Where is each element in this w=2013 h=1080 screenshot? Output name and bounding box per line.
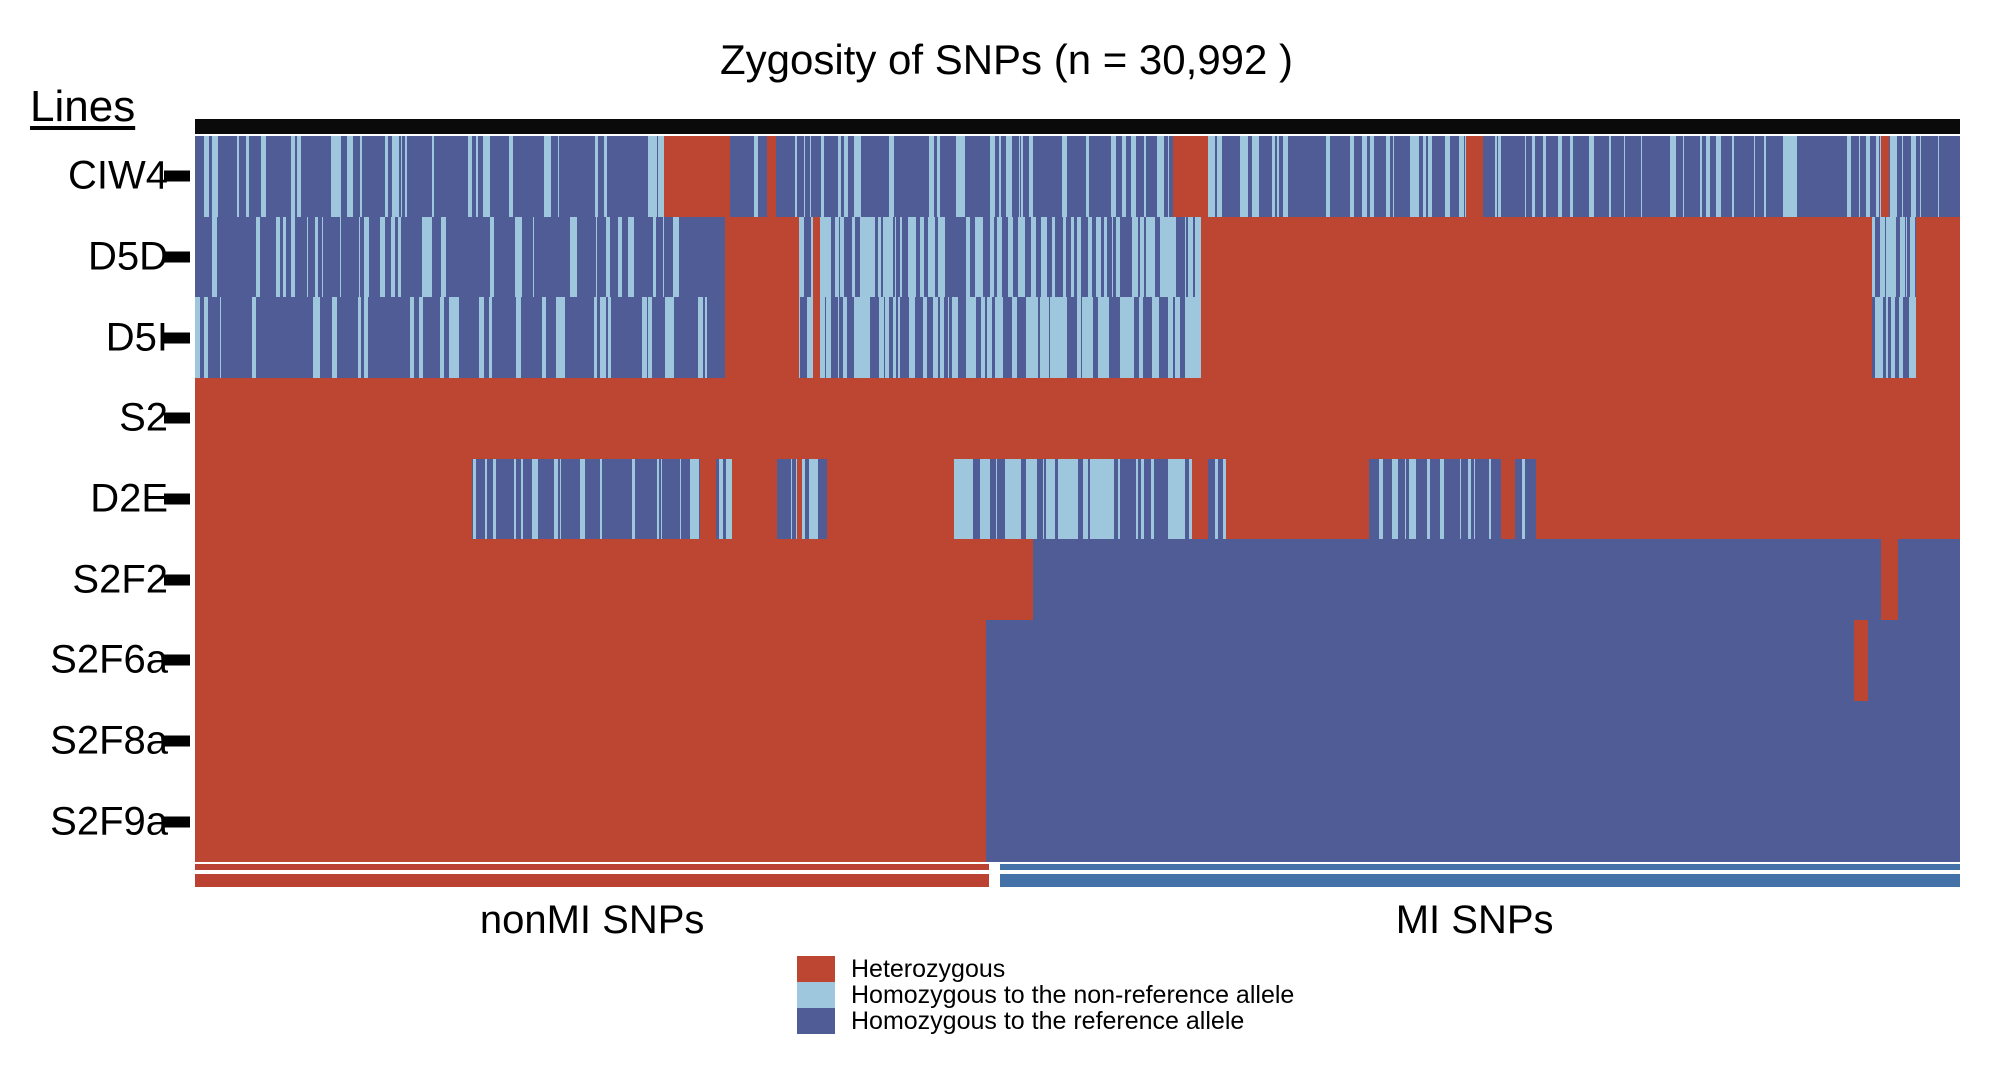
heatmap-cell-block bbox=[820, 217, 1201, 298]
heatmap-row-s2f2 bbox=[195, 539, 1960, 620]
row-tick-s2f2 bbox=[164, 574, 190, 585]
heatmap-cell-block bbox=[1201, 217, 1475, 298]
heatmap-cell-block bbox=[700, 459, 716, 540]
heatmap-cell-block bbox=[195, 620, 986, 701]
heatmap-cell-block bbox=[827, 459, 954, 540]
row-label-s2f6a: S2F6a bbox=[0, 638, 168, 683]
heatmap-cell-block bbox=[195, 459, 472, 540]
legend-label-heterozygous: Heterozygous bbox=[851, 956, 1005, 982]
heatmap-cell-block bbox=[730, 136, 767, 217]
row-label-s2f8a: S2F8a bbox=[0, 719, 168, 764]
heatmap-cell-block bbox=[195, 378, 1960, 459]
heatmap-cell-block bbox=[813, 297, 820, 378]
heatmap-cell-block bbox=[1466, 136, 1484, 217]
heatmap-row-ciw4 bbox=[195, 136, 1960, 217]
heatmap-cell-block bbox=[799, 297, 813, 378]
legend: Heterozygous Homozygous to the non-refer… bbox=[797, 956, 1294, 1034]
row-tick-d5i bbox=[164, 332, 190, 343]
heatmap-cell-block bbox=[195, 136, 664, 217]
row-tick-ciw4 bbox=[164, 171, 190, 182]
legend-label-homozygous-nonref: Homozygous to the non-reference allele bbox=[851, 982, 1294, 1008]
heatmap-cell-block bbox=[1881, 539, 1899, 620]
heatmap-cell-block bbox=[1916, 217, 1960, 298]
heatmap-cell-block bbox=[954, 459, 1192, 540]
heatmap-cell-block bbox=[986, 701, 1960, 782]
row-tick-s2 bbox=[164, 413, 190, 424]
heatmap-cell-block bbox=[1889, 136, 1960, 217]
legend-item-homozygous-ref: Homozygous to the reference allele bbox=[797, 1008, 1294, 1034]
heatmap-cell-block bbox=[1475, 217, 1872, 298]
heatmap-cell-block bbox=[820, 297, 1201, 378]
heatmap-cell-block bbox=[195, 701, 986, 782]
heatmap-cell-block bbox=[1916, 297, 1960, 378]
heatmap-row-d5d bbox=[195, 217, 1960, 298]
heatmap-cell-block bbox=[195, 217, 725, 298]
group-annotation-mi-thin bbox=[1000, 864, 1960, 870]
heatmap-cell-block bbox=[716, 459, 732, 540]
heatmap-cell-block bbox=[1369, 459, 1501, 540]
heatmap-cell-block bbox=[1868, 620, 1960, 701]
heatmap-cell-block bbox=[195, 297, 725, 378]
row-label-ciw4: CIW4 bbox=[0, 154, 168, 199]
heatmap-plot bbox=[195, 136, 1960, 862]
row-label-s2: S2 bbox=[0, 396, 168, 441]
group-annotation-bar bbox=[195, 874, 1960, 887]
heatmap-row-s2f8a bbox=[195, 701, 1960, 782]
heatmap-cell-block bbox=[664, 136, 729, 217]
heatmap-cell-block bbox=[732, 459, 778, 540]
row-label-d2e: D2E bbox=[0, 477, 168, 522]
heatmap-cell-block bbox=[1033, 539, 1880, 620]
legend-item-homozygous-nonref: Homozygous to the non-reference allele bbox=[797, 982, 1294, 1008]
heatmap-cell-block bbox=[1872, 297, 1916, 378]
heatmap-cell-block bbox=[1208, 136, 1466, 217]
heatmap-cell-block bbox=[1536, 459, 1960, 540]
row-label-s2f9a: S2F9a bbox=[0, 799, 168, 844]
group-annotation-nonmi-thin bbox=[195, 864, 989, 870]
legend-label-homozygous-ref: Homozygous to the reference allele bbox=[851, 1008, 1244, 1034]
heatmap-cell-block bbox=[195, 539, 1033, 620]
heatmap-cell-block bbox=[195, 781, 986, 862]
legend-swatch-homozygous-nonref bbox=[797, 982, 835, 1008]
heatmap-cell-block bbox=[472, 459, 700, 540]
row-tick-d2e bbox=[164, 494, 190, 505]
heatmap-cell-block bbox=[813, 217, 820, 298]
heatmap-cell-block bbox=[986, 620, 1854, 701]
row-tick-s2f6a bbox=[164, 655, 190, 666]
legend-item-heterozygous: Heterozygous bbox=[797, 956, 1294, 982]
heatmap-cell-block bbox=[767, 136, 776, 217]
row-label-d5d: D5D bbox=[0, 235, 168, 280]
row-tick-s2f8a bbox=[164, 736, 190, 747]
heatmap-cell-block bbox=[1872, 217, 1916, 298]
group-label-mi: MI SNPs bbox=[989, 898, 1960, 943]
legend-swatch-homozygous-ref bbox=[797, 1008, 835, 1034]
heatmap-cell-block bbox=[725, 217, 799, 298]
group-label-nonmi: nonMI SNPs bbox=[195, 898, 989, 943]
heatmap-cell-block bbox=[799, 217, 813, 298]
heatmap-cell-block bbox=[1483, 136, 1880, 217]
legend-swatch-heterozygous bbox=[797, 956, 835, 982]
heatmap-cell-block bbox=[1881, 136, 1890, 217]
heatmap-cell-block bbox=[1226, 459, 1369, 540]
heatmap-row-d5i bbox=[195, 297, 1960, 378]
heatmap-cell-block bbox=[986, 781, 1960, 862]
page-title: Zygosity of SNPs (n = 30,992 ) bbox=[0, 36, 2013, 84]
heatmap-cell-block bbox=[776, 136, 1173, 217]
row-tick-s2f9a bbox=[164, 816, 190, 827]
heatmap-row-s2f9a bbox=[195, 781, 1960, 862]
heatmap-cell-block bbox=[1173, 136, 1208, 217]
axis-corner-label: Lines bbox=[30, 82, 135, 132]
heatmap-cell-block bbox=[777, 459, 796, 540]
heatmap-cell-block bbox=[1501, 459, 1515, 540]
heatmap-cell-block bbox=[1515, 459, 1536, 540]
heatmap-cell-block bbox=[1854, 620, 1868, 701]
heatmap-cell-block bbox=[1201, 297, 1872, 378]
heatmap-row-s2 bbox=[195, 378, 1960, 459]
heatmap-row-s2f6a bbox=[195, 620, 1960, 701]
row-label-d5i: D5I bbox=[0, 315, 168, 360]
heatmap-row-d2e bbox=[195, 459, 1960, 540]
row-tick-d5d bbox=[164, 252, 190, 263]
group-annotation-thin bbox=[195, 864, 1960, 870]
heatmap-cell-block bbox=[725, 297, 799, 378]
heatmap-cell-block bbox=[1898, 539, 1960, 620]
row-label-s2f2: S2F2 bbox=[0, 557, 168, 602]
heatmap-cell-block bbox=[1208, 459, 1226, 540]
group-annotation-nonmi bbox=[195, 874, 989, 887]
heatmap-header-bar bbox=[195, 119, 1960, 134]
group-annotation-mi bbox=[1000, 874, 1960, 887]
heatmap-cell-block bbox=[1192, 459, 1208, 540]
heatmap-cell-block bbox=[802, 459, 827, 540]
